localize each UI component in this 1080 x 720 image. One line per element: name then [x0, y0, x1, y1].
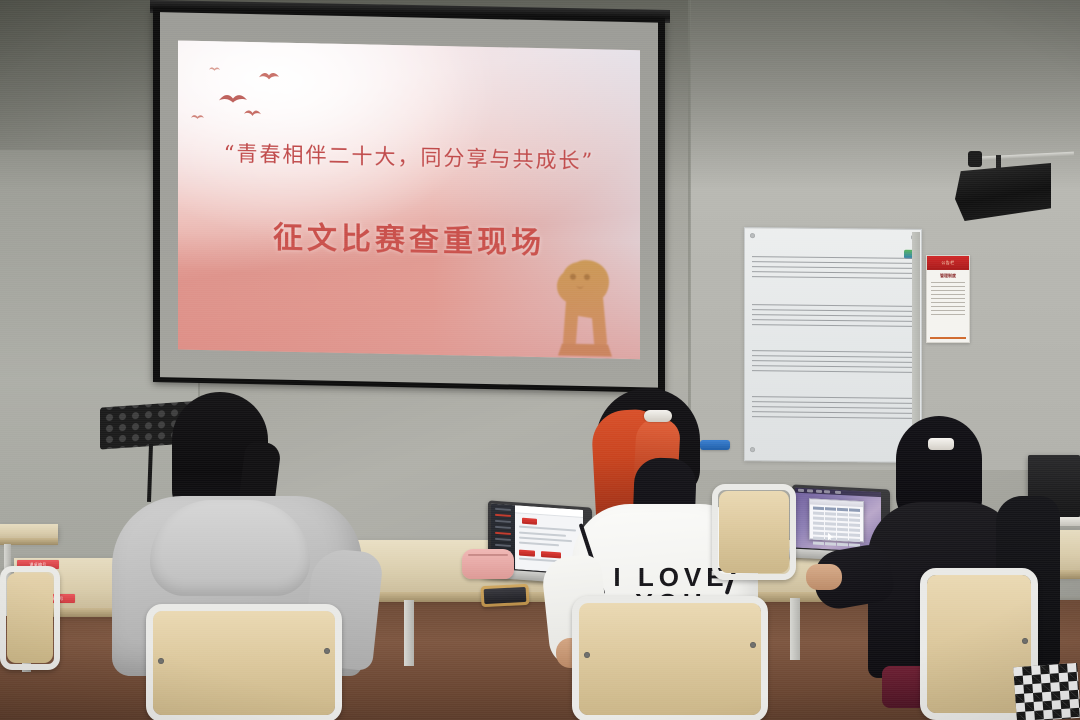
chair-front-center[interactable] [572, 596, 768, 720]
hand [806, 564, 842, 590]
bird-icon [208, 65, 221, 72]
poster-header-text: 公告栏 [941, 260, 954, 266]
chair-bolt [584, 652, 590, 658]
speaker-bracket [968, 151, 982, 167]
staff-group [752, 304, 914, 328]
chair-left-rear[interactable] [0, 566, 60, 670]
wall-poster: 公告栏 管理制度 [926, 255, 970, 343]
spreadsheet-window[interactable] [809, 498, 864, 542]
chair-bolt [324, 648, 330, 654]
screen-frame: “青春相伴二十大，同分享与共成长” 征文比赛查重现场 [153, 7, 665, 393]
bird-flock [184, 63, 334, 136]
spreadsheet-grid[interactable] [813, 506, 860, 538]
checkered-bag[interactable] [1013, 663, 1080, 720]
board-screw [750, 233, 755, 238]
laptop-screen[interactable] [795, 488, 881, 553]
classroom-photo: “青春相伴二十大，同分享与共成长” 征文比赛查重现场 [0, 0, 1080, 720]
bird-icon [190, 113, 205, 121]
hair-clip [928, 438, 954, 450]
pouch-zipper [468, 554, 508, 556]
chair-bolt [158, 658, 164, 664]
chair-frame [572, 596, 768, 720]
desk-leg [404, 600, 414, 666]
chair-front-left[interactable] [146, 604, 342, 720]
bird-icon [258, 70, 280, 81]
chair-bolt [750, 642, 756, 648]
speaker-bolt [996, 155, 1001, 169]
staff-group [752, 350, 914, 374]
chair-frame [712, 484, 796, 580]
screen-surface: “青春相伴二十大，同分享与共成长” 征文比赛查重现场 [160, 12, 658, 387]
hood [150, 500, 310, 596]
highlight-chip [522, 517, 537, 524]
desk-leg [790, 598, 800, 660]
poster-header: 公告栏 [927, 256, 969, 270]
smartphone[interactable] [480, 584, 529, 607]
projected-slide: “青春相伴二十大，同分享与共成长” 征文比赛查重现场 [178, 41, 640, 360]
chair-right-rear[interactable] [712, 484, 796, 580]
bird-icon [218, 91, 248, 106]
slide-haze [178, 232, 640, 359]
pencil-pouch[interactable] [462, 549, 514, 579]
staff-group [752, 256, 914, 280]
phone-screen[interactable] [484, 587, 527, 604]
chair-frame [146, 604, 342, 720]
poster-footer-bar [930, 337, 966, 339]
poster-body [927, 279, 969, 315]
chair-bolt [1022, 638, 1028, 644]
chair-frame [0, 566, 60, 670]
highlight-chip [519, 549, 536, 556]
hair-clip [644, 410, 672, 422]
projection-screen: “青春相伴二十大，同分享与共成长” 征文比赛查重现场 [150, 0, 670, 390]
bird-icon [243, 108, 262, 118]
